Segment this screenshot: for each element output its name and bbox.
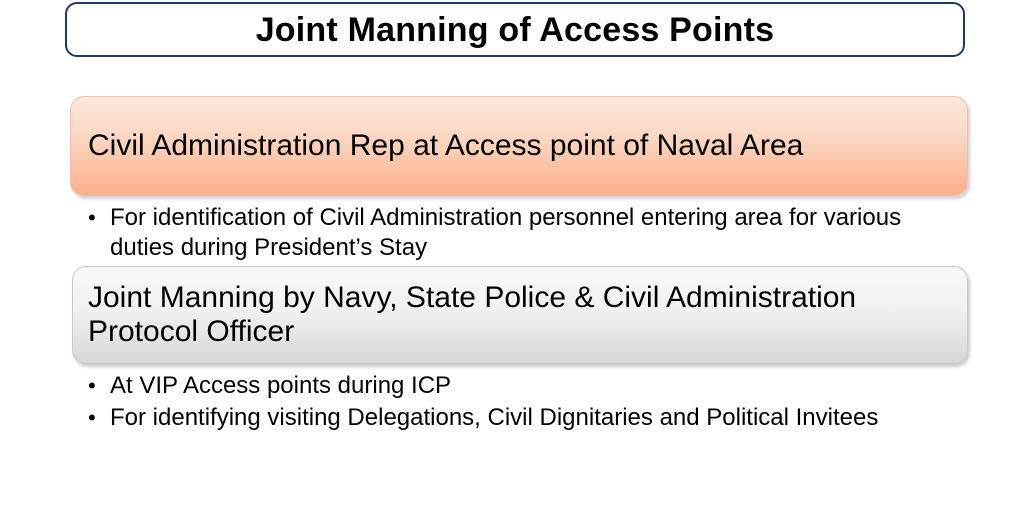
list-item-label: For identification of Civil Administrati… bbox=[110, 203, 958, 263]
list-item-label: At VIP Access points during ICP bbox=[110, 371, 958, 401]
bullet-list-section-2: • At VIP Access points during ICP • For … bbox=[88, 371, 958, 435]
list-item: • At VIP Access points during ICP bbox=[88, 371, 958, 401]
section-heading-text: Joint Manning by Navy, State Police & Ci… bbox=[73, 281, 967, 349]
bullet-point-icon: • bbox=[88, 203, 110, 232]
list-item: • For identifying visiting Delegations, … bbox=[88, 403, 958, 433]
page-title: Joint Manning of Access Points bbox=[256, 13, 775, 47]
list-item-label: For identifying visiting Delegations, Ci… bbox=[110, 403, 958, 433]
section-heading-box-civil-admin-rep: Civil Administration Rep at Access point… bbox=[70, 96, 968, 196]
list-item: • For identification of Civil Administra… bbox=[88, 203, 958, 263]
bullet-list-section-1: • For identification of Civil Administra… bbox=[88, 203, 958, 265]
slide-canvas: Joint Manning of Access Points Civil Adm… bbox=[0, 0, 1029, 517]
bullet-point-icon: • bbox=[88, 403, 110, 432]
bullet-point-icon: • bbox=[88, 371, 110, 400]
title-box: Joint Manning of Access Points bbox=[65, 2, 965, 57]
section-heading-box-joint-manning: Joint Manning by Navy, State Police & Ci… bbox=[72, 266, 968, 364]
section-heading-text: Civil Administration Rep at Access point… bbox=[71, 129, 817, 163]
